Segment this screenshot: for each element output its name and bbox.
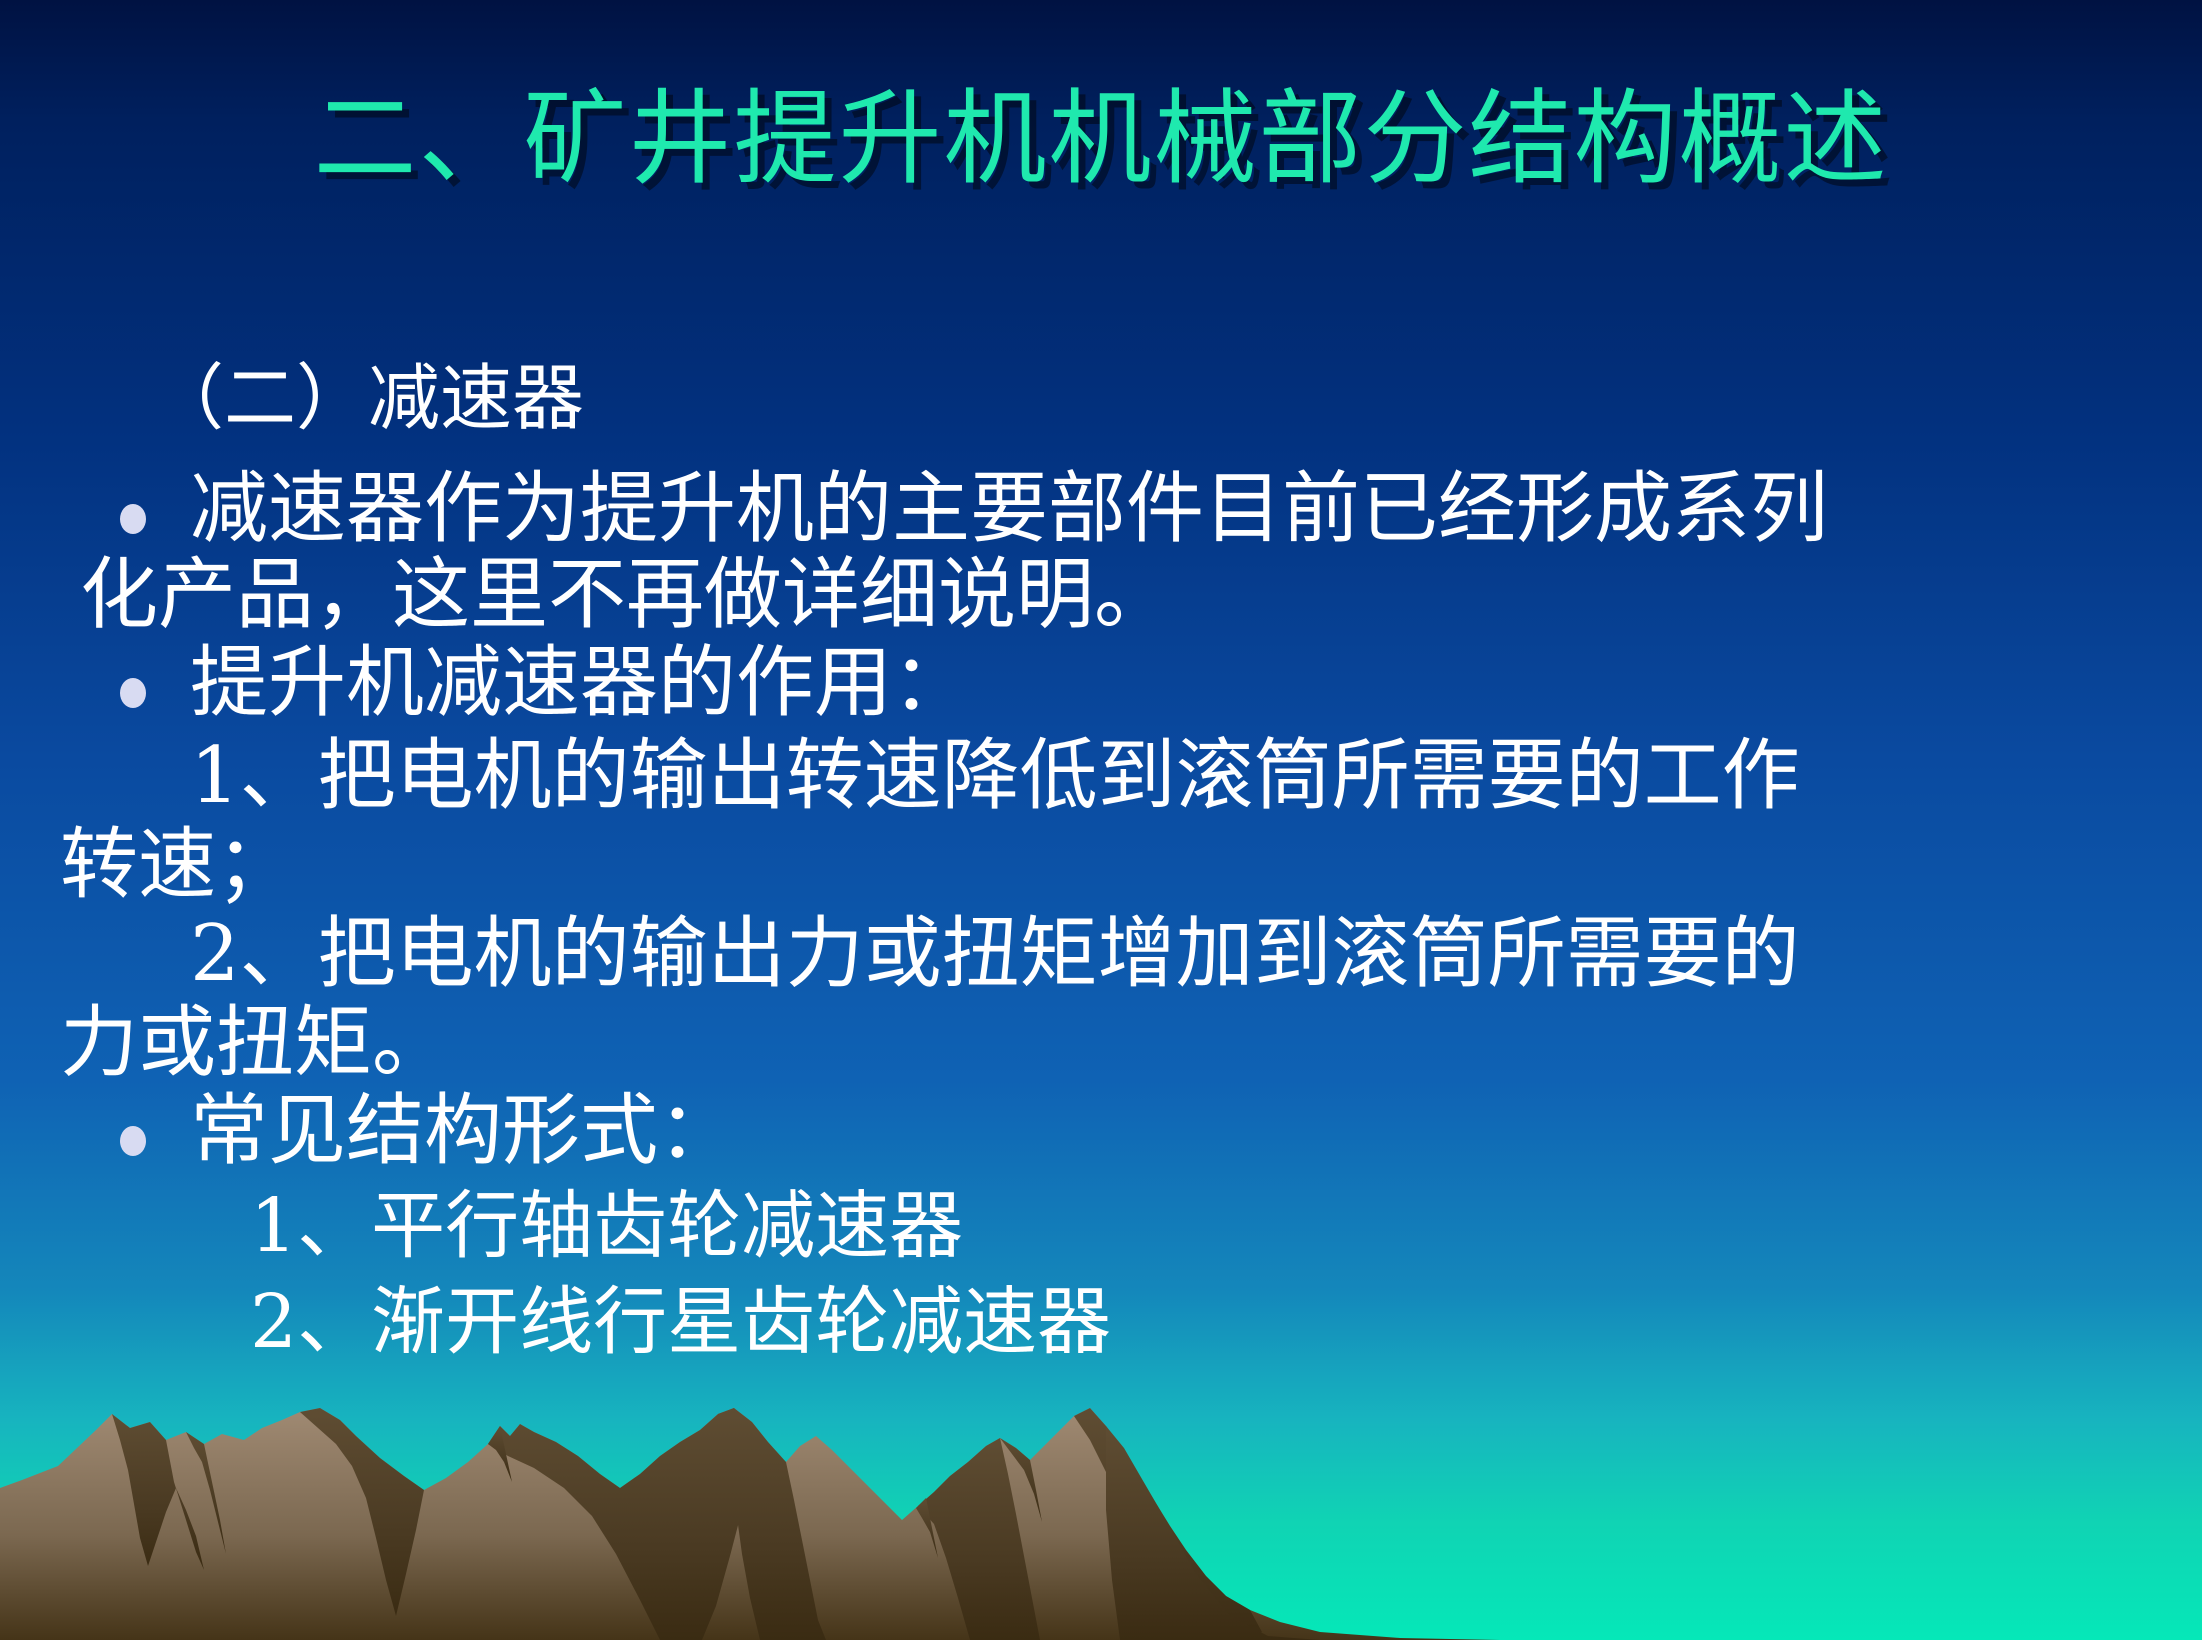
- function-item-1-line-1: 1、把电机的输出转速降低到滚筒所需要的工作: [190, 730, 2202, 822]
- bullet-dot-icon: [120, 1126, 146, 1156]
- slide-canvas: 二、矿井提升机机械部分结构概述 （二）减速器 减速器作为提升机的主要部件目前已经…: [0, 0, 2202, 1640]
- mountain-silhouette-decoration: [0, 1370, 2202, 1640]
- function-item-2: 2、把电机的输出力或扭矩增加到滚筒所需要的 力或扭矩。: [0, 908, 2202, 1086]
- bullet-item-2: 提升机减速器的作用：: [0, 638, 2202, 728]
- structure-item-1: 1、平行轴齿轮减速器: [0, 1178, 2202, 1274]
- bullet-item-3: 常见结构形式：: [0, 1086, 2202, 1176]
- mountain-slope-right: [1106, 1426, 1320, 1640]
- bullet-item-2-line-1: 提升机减速器的作用：: [190, 638, 2202, 728]
- section-subheading: （二）减速器: [152, 352, 2202, 444]
- slide-body: （二）减速器 减速器作为提升机的主要部件目前已经形成系列 化产品，这里不再做详细…: [0, 352, 2202, 1370]
- structure-item-2: 2、渐开线行星齿轮减速器: [0, 1274, 2202, 1370]
- bullet-dot-icon: [120, 504, 146, 534]
- bullet-item-1-line-2: 化产品，这里不再做详细说明。: [80, 554, 2202, 636]
- function-item-2-line-2: 力或扭矩。: [60, 1000, 2202, 1086]
- slide-title-block: 二、矿井提升机机械部分结构概述: [0, 88, 2202, 191]
- bullet-item-1-line-1: 减速器作为提升机的主要部件目前已经形成系列: [190, 464, 2202, 554]
- bullet-item-3-line-1: 常见结构形式：: [190, 1086, 2202, 1176]
- function-item-1-line-2: 转速；: [60, 822, 2202, 908]
- function-item-2-line-1: 2、把电机的输出力或扭矩增加到滚筒所需要的: [190, 908, 2202, 1000]
- page-title: 二、矿井提升机机械部分结构概述: [314, 88, 1889, 191]
- function-item-1: 1、把电机的输出转速降低到滚筒所需要的工作 转速；: [0, 730, 2202, 908]
- bullet-item-1: 减速器作为提升机的主要部件目前已经形成系列 化产品，这里不再做详细说明。: [0, 464, 2202, 636]
- bullet-dot-icon: [120, 678, 146, 708]
